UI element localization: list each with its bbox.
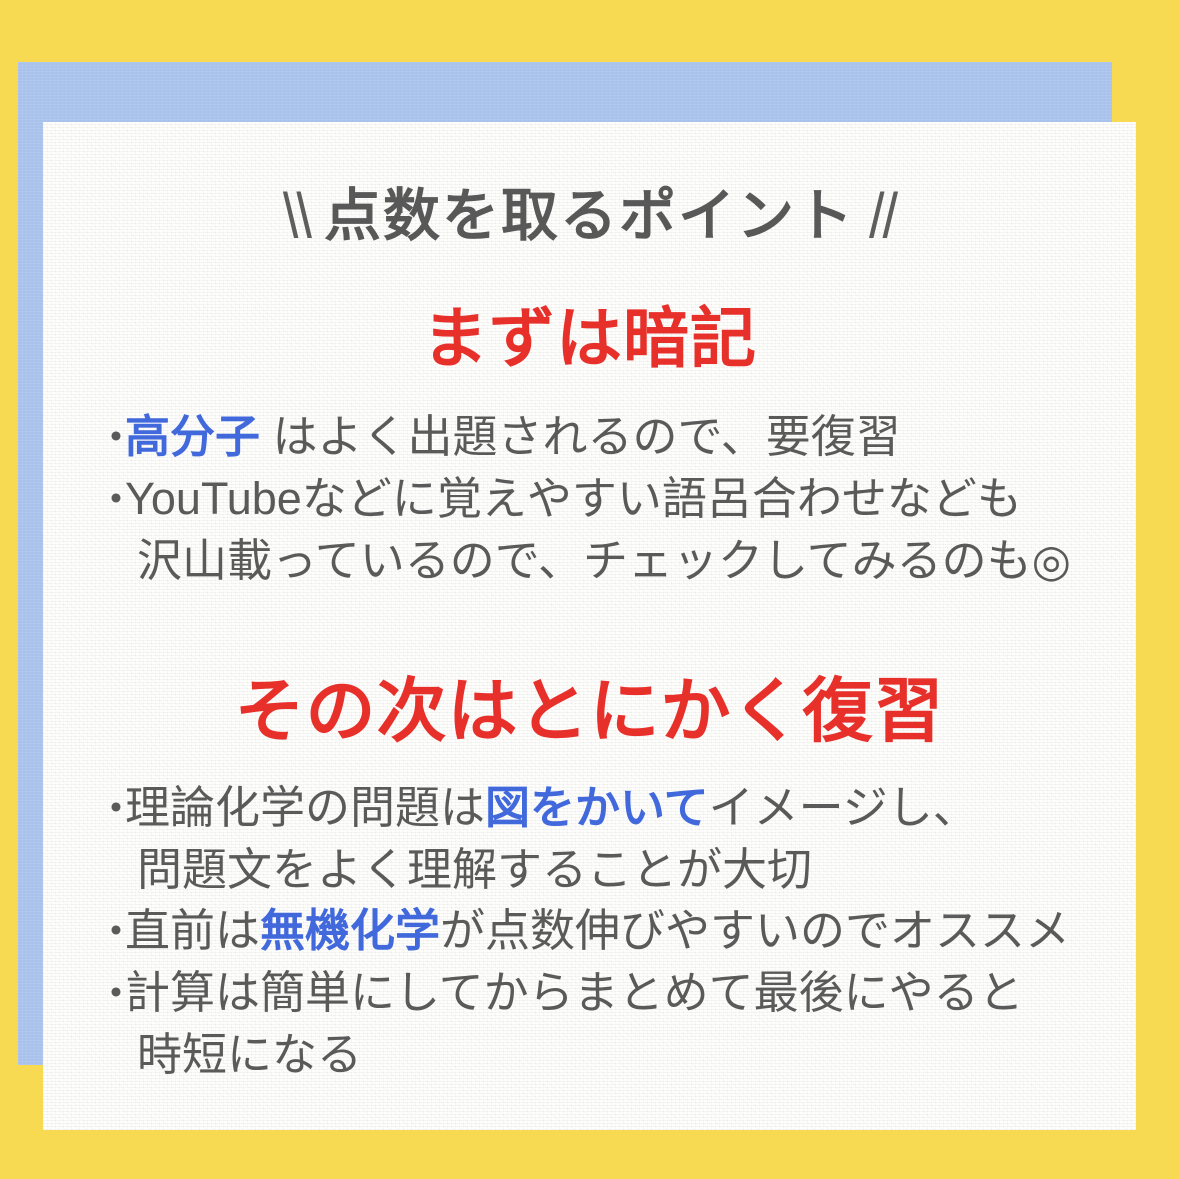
list-item-line: ・理論化学の問題は図をかいてイメージし、: [95, 782, 978, 833]
text-run: が点数伸びやすいのでオススメ: [440, 905, 1070, 956]
bullet-marker-icon: ・: [95, 469, 125, 530]
text-run: 理論化学の問題は: [125, 782, 485, 833]
paper-card: \\点数を取るポイント// まずは暗記 ・高分子 はよく出題されるので、要復習・…: [43, 122, 1136, 1130]
list-item: ・高分子 はよく出題されるので、要復習: [95, 406, 1112, 468]
text-run: YouTubeなどに覚えやすい語呂合わせなども: [125, 473, 1022, 524]
bullet-marker-icon: ・: [95, 778, 125, 839]
list-item-line: 時短になる: [95, 1024, 1122, 1085]
list-item-line: ・高分子 はよく出題されるので、要復習: [95, 411, 901, 462]
list-item: ・直前は無機化学が点数伸びやすいのでオススメ: [95, 900, 1122, 962]
keyword-highlight: 図をかいて: [485, 782, 709, 833]
text-run: はよく出題されるので、要復習: [260, 411, 901, 462]
section-heading-1: まずは暗記: [43, 285, 1136, 381]
text-run: 直前は: [125, 905, 260, 956]
keyword-highlight: 高分子: [125, 411, 260, 462]
bullet-marker-icon: ・: [95, 901, 125, 962]
text-run: 問題文をよく理解することが大切: [137, 844, 812, 895]
list-item-line: ・YouTubeなどに覚えやすい語呂合わせなども: [95, 473, 1022, 524]
text-run: 沢山載っているので、チェックしてみるのも◎: [137, 535, 1071, 586]
slash-left-decoration: \\: [283, 179, 310, 252]
list-item: ・計算は簡単にしてからまとめて最後にやると時短になる: [95, 962, 1122, 1085]
card-content: \\点数を取るポイント// まずは暗記 ・高分子 はよく出題されるので、要復習・…: [43, 122, 1136, 1130]
bullet-marker-icon: ・: [95, 963, 125, 1024]
bullet-list-section-1: ・高分子 はよく出題されるので、要復習・YouTubeなどに覚えやすい語呂合わせ…: [95, 406, 1112, 591]
text-run: 時短になる: [137, 1029, 362, 1080]
page-title: \\点数を取るポイント//: [43, 170, 1136, 252]
list-item: ・理論化学の問題は図をかいてイメージし、問題文をよく理解することが大切: [95, 777, 1122, 900]
list-item-line: 沢山載っているので、チェックしてみるのも◎: [95, 530, 1112, 591]
page-title-text: 点数を取るポイント: [310, 170, 869, 252]
text-run: 計算は簡単にしてからまとめて最後にやると: [125, 967, 1024, 1018]
section-heading-2: その次はとにかく復習: [43, 655, 1136, 756]
text-run: イメージし、: [709, 782, 978, 833]
list-item-line: ・計算は簡単にしてからまとめて最後にやると: [95, 967, 1024, 1018]
slash-right-decoration: //: [869, 179, 896, 252]
keyword-highlight: 無機化学: [260, 905, 440, 956]
list-item-line: ・直前は無機化学が点数伸びやすいのでオススメ: [95, 905, 1070, 956]
bullet-marker-icon: ・: [95, 407, 125, 468]
bullet-list-section-2: ・理論化学の問題は図をかいてイメージし、問題文をよく理解することが大切・直前は無…: [95, 777, 1122, 1085]
list-item-line: 問題文をよく理解することが大切: [95, 839, 1122, 900]
poster-canvas: \\点数を取るポイント// まずは暗記 ・高分子 はよく出題されるので、要復習・…: [0, 0, 1179, 1179]
list-item: ・YouTubeなどに覚えやすい語呂合わせなども沢山載っているので、チェックして…: [95, 468, 1112, 591]
